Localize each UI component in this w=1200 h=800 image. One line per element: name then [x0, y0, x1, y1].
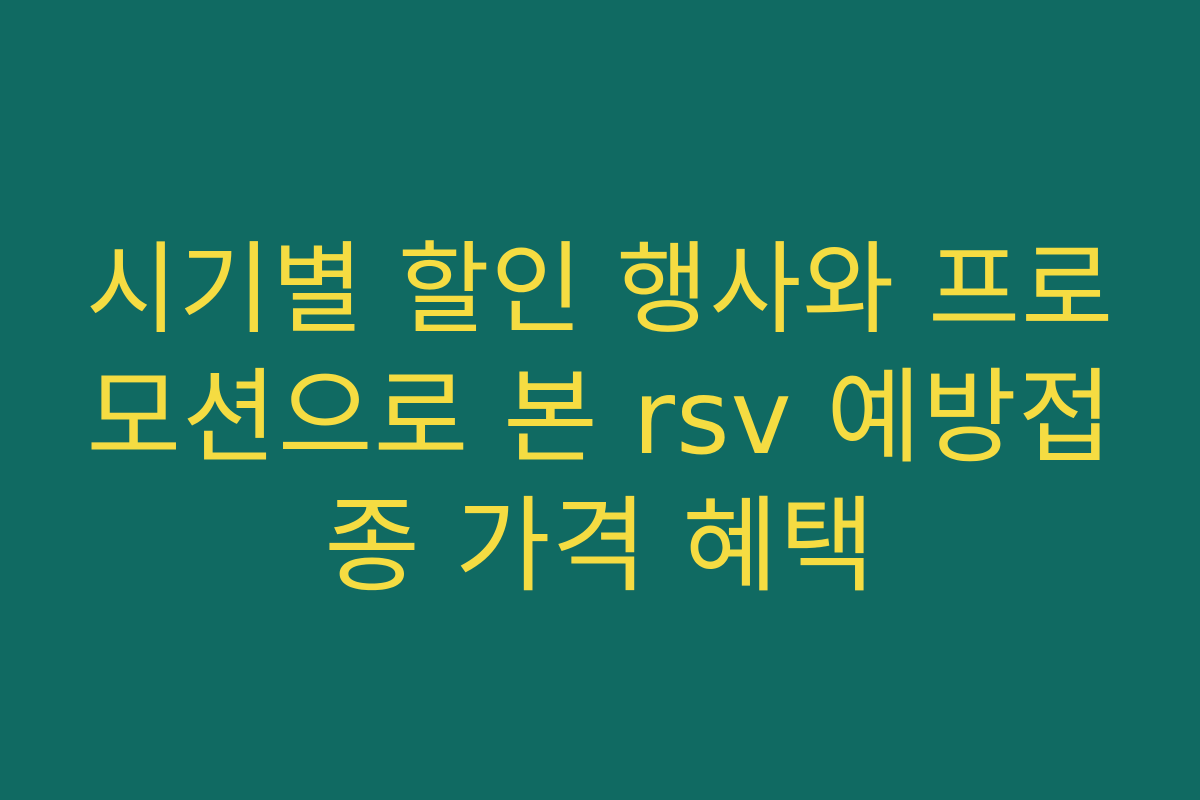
banner-canvas: 시기별 할인 행사와 프로 모션으로 본 rsv 예방접 종 가격 혜택	[0, 0, 1200, 800]
banner-title: 시기별 할인 행사와 프로 모션으로 본 rsv 예방접 종 가격 혜택	[50, 226, 1150, 610]
banner-title-line-2: 모션으로 본 rsv 예방접	[86, 354, 1113, 482]
banner-title-line-1: 시기별 할인 행사와 프로	[86, 226, 1114, 354]
banner-title-line-3: 종 가격 혜택	[324, 482, 876, 610]
